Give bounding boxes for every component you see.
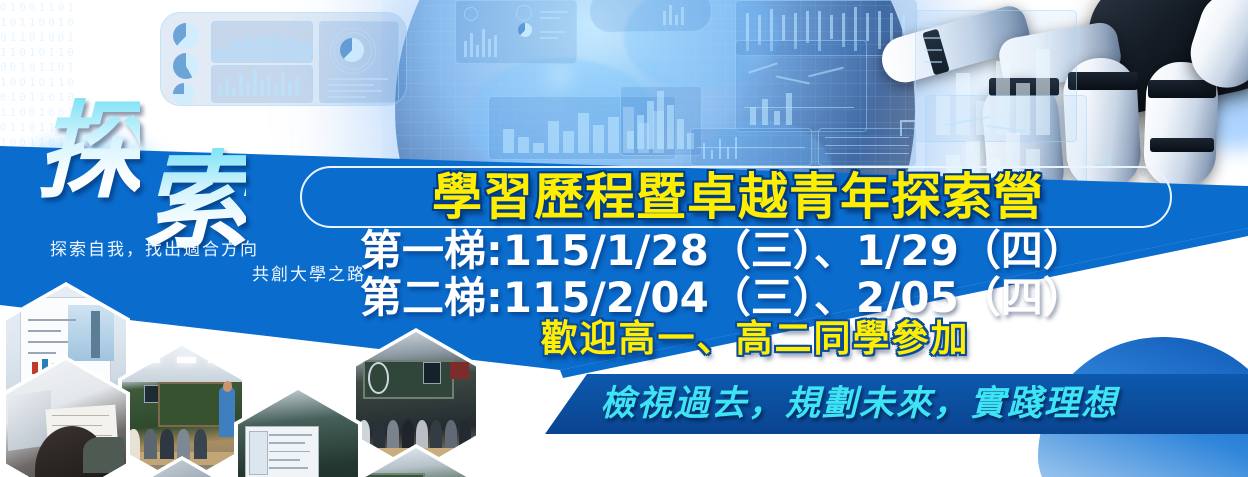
dashboard-hud-panel (160, 12, 407, 106)
page-title: 學習歷程暨卓越青年探索營 (310, 164, 1166, 230)
event-promo-banner: 01001101 10110010 01101001 11010110 0010… (0, 0, 1248, 477)
subtitle-line-2: 共創大學之路 (50, 263, 370, 288)
session-date-1: 第一梯:115/1/28（三）、1/29（四） (360, 228, 1150, 273)
hud-corner-bracket-topleft (900, 120, 916, 136)
logo-char-tan: 探 (36, 98, 140, 206)
line-chart-hud-panel (735, 40, 867, 132)
upload-cloud-hud-panel (590, 0, 712, 32)
explore-logo: 探 索 (30, 100, 330, 245)
collage-photo-projector-slides (234, 386, 362, 477)
hexagon-photo-collage (0, 286, 510, 477)
logo-subtitle: 探索自我，找出適合方向 共創大學之路 (50, 238, 370, 287)
waveform-hud-panel (690, 128, 812, 166)
icon-cluster-hud-panel (455, 0, 577, 64)
tagline-text: 檢視過去，規劃未來，實踐理想 (600, 378, 1220, 430)
collage-photo-speaker-poster (352, 444, 480, 477)
subtitle-line-1: 探索自我，找出適合方向 (50, 240, 259, 260)
